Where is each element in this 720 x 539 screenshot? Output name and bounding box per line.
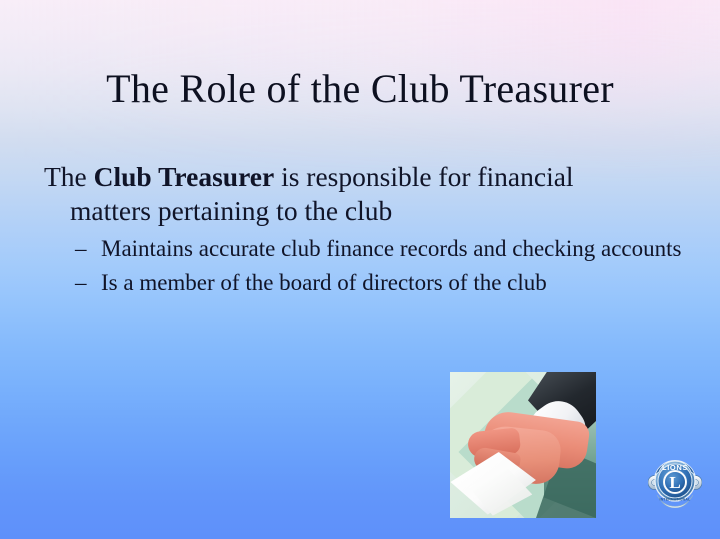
sub-bullet-text: Is a member of the board of directors of…	[101, 270, 547, 295]
slide-canvas: The Role of the Club Treasurer The Club …	[0, 0, 720, 539]
bullet-lead-text: The	[44, 161, 94, 192]
dash-bullet-icon: –	[75, 268, 87, 298]
slide-body: The Club Treasurer is responsible for fi…	[40, 160, 688, 301]
slide-title: The Role of the Club Treasurer	[0, 66, 720, 112]
sub-bullet-item: –Is a member of the board of directors o…	[40, 268, 688, 298]
bullet-level1: The Club Treasurer is responsible for fi…	[40, 160, 688, 228]
lions-bottom-text: INTERNATIONAL	[660, 498, 692, 502]
hand-delivering-check-clipart	[450, 372, 596, 518]
dash-bullet-icon: –	[75, 234, 87, 264]
bullet-continuation-text: matters pertaining to the club	[44, 194, 688, 228]
sub-bullet-text: Maintains accurate club finance records …	[101, 236, 681, 261]
bullet-emphasis-text: Club Treasurer	[94, 161, 275, 192]
lions-international-logo: LIONS L INTERNATIONAL	[648, 452, 702, 508]
bullet-rest-text: is responsible for financial	[274, 161, 573, 192]
lions-center-letter: L	[669, 473, 680, 492]
sub-bullet-item: –Maintains accurate club finance records…	[40, 234, 688, 264]
